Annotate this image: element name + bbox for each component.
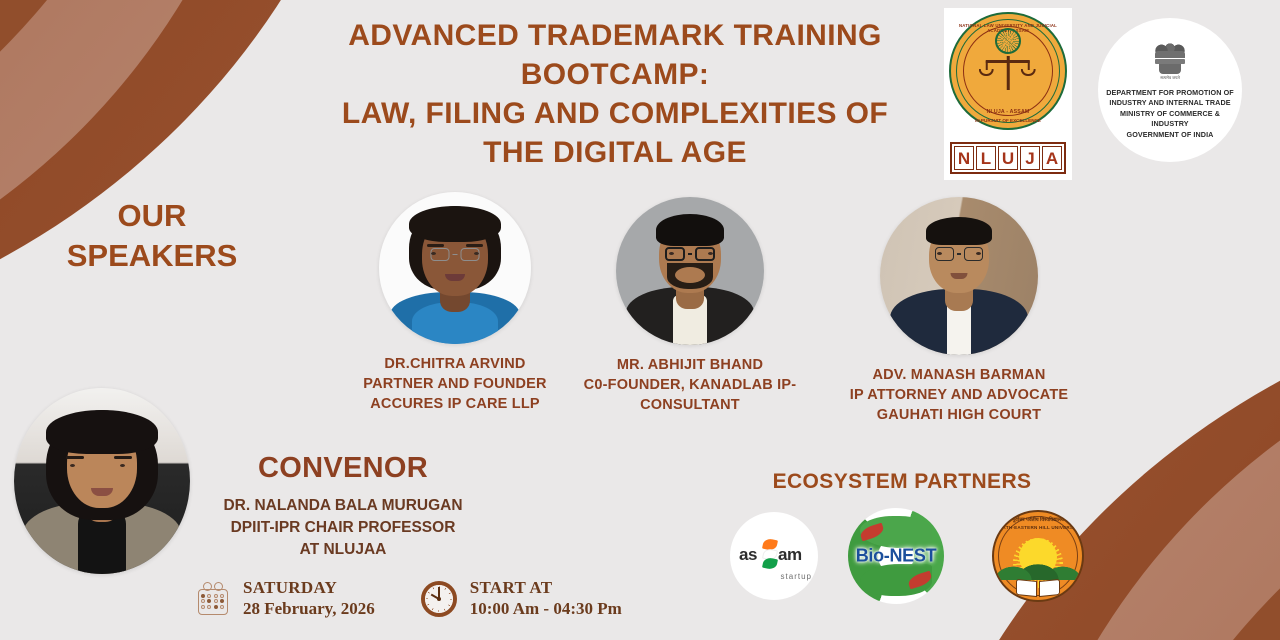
speakers-heading: OUR SPEAKERS bbox=[40, 196, 264, 277]
title-line-1: ADVANCED TRADEMARK TRAINING bbox=[255, 16, 975, 55]
nluja-motto-text: IN PURSUIT OF EXCELLENCE bbox=[951, 118, 1065, 123]
speaker-card-3: ADV. MANASH BARMAN IP ATTORNEY AND ADVOC… bbox=[830, 197, 1088, 425]
speaker-photo-2 bbox=[616, 197, 764, 345]
nluja-seal: NATIONAL LAW UNIVERSITY AND JUDICIAL ACA… bbox=[949, 12, 1067, 130]
event-time: START AT 10:00 Am - 04:30 Pm bbox=[421, 578, 622, 619]
convenor-photo bbox=[14, 388, 190, 574]
nluja-wordmark: N L U J A bbox=[950, 142, 1066, 174]
event-date-value: 28 February, 2026 bbox=[243, 599, 375, 620]
ashoka-chakra-icon bbox=[995, 28, 1021, 54]
speaker-photo-1 bbox=[379, 192, 531, 344]
title-line-2: BOOTCAMP: bbox=[255, 55, 975, 94]
assam-word-right: am bbox=[778, 545, 802, 565]
nehu-logo: पूर्वोत्तर पर्वतीय विश्वविद्यालय NORTH-E… bbox=[992, 510, 1084, 602]
convenor-role: DPIIT-IPR CHAIR PROFESSOR bbox=[196, 517, 490, 539]
speaker-card-1: DR.CHITRA ARVIND PARTNER AND FOUNDER ACC… bbox=[333, 192, 577, 414]
convenor-details: DR. NALANDA BALA MURUGAN DPIIT-IPR CHAIR… bbox=[196, 495, 490, 561]
convenor-name: DR. NALANDA BALA MURUGAN bbox=[196, 495, 490, 517]
poster-title: ADVANCED TRADEMARK TRAINING BOOTCAMP: LA… bbox=[255, 16, 975, 172]
convenor-block: CONVENOR DR. NALANDA BALA MURUGAN DPIIT-… bbox=[196, 452, 490, 561]
scales-of-justice-icon bbox=[1007, 56, 1010, 90]
nluja-letter-a: A bbox=[1042, 146, 1062, 170]
speaker-3-role: IP ATTORNEY AND ADVOCATE bbox=[830, 385, 1088, 405]
event-date: SATURDAY 28 February, 2026 bbox=[196, 578, 375, 619]
bio-nest-wordmark: Bio-NEST bbox=[848, 546, 944, 567]
nluja-letter-j: J bbox=[1020, 146, 1040, 170]
speaker-2-info: MR. ABHIJIT BHAND C0-FOUNDER, KANADLAB I… bbox=[568, 355, 812, 415]
calendar-icon bbox=[196, 582, 230, 616]
nluja-letter-u: U bbox=[998, 146, 1018, 170]
assam-word-left: as bbox=[739, 545, 757, 565]
dpiit-line-3: MINISTRY OF COMMERCE & INDUSTRY bbox=[1104, 109, 1236, 130]
dpiit-line-1: DEPARTMENT FOR PROMOTION OF bbox=[1104, 88, 1236, 98]
hills-icon bbox=[994, 554, 1082, 580]
title-line-3: LAW, FILING AND COMPLEXITIES OF bbox=[255, 94, 975, 133]
speaker-1-info: DR.CHITRA ARVIND PARTNER AND FOUNDER ACC… bbox=[333, 354, 577, 414]
event-time-label: START AT bbox=[470, 578, 622, 599]
dpiit-line-2: INDUSTRY AND INTERNAL TRADE bbox=[1104, 98, 1236, 108]
dpiit-logo: सत्यमेव जयते DEPARTMENT FOR PROMOTION OF… bbox=[1098, 18, 1242, 162]
speaker-3-name: ADV. MANASH BARMAN bbox=[830, 365, 1088, 385]
speaker-2-org: CONSULTANT bbox=[568, 395, 812, 415]
convenor-org: AT NLUJAA bbox=[196, 539, 490, 561]
speaker-3-org: GAUHATI HIGH COURT bbox=[830, 405, 1088, 425]
ecosystem-partners-logos: as am startup Bio-NEST पूर्वोत्तर पर्वती… bbox=[716, 508, 1106, 604]
speaker-1-name: DR.CHITRA ARVIND bbox=[333, 354, 577, 374]
nehu-hindi-text: पूर्वोत्तर पर्वतीय विश्वविद्यालय bbox=[994, 517, 1082, 523]
convenor-title: CONVENOR bbox=[196, 452, 490, 485]
title-line-4: THE DIGITAL AGE bbox=[255, 133, 975, 172]
clock-icon bbox=[421, 581, 457, 617]
nluja-logo: NATIONAL LAW UNIVERSITY AND JUDICIAL ACA… bbox=[944, 8, 1072, 180]
speakers-heading-line2: SPEAKERS bbox=[40, 236, 264, 276]
speaker-1-org: ACCURES IP CARE LLP bbox=[333, 394, 577, 414]
speaker-card-2: MR. ABHIJIT BHAND C0-FOUNDER, KANADLAB I… bbox=[568, 197, 812, 415]
dpiit-line-4: GOVERNMENT OF INDIA bbox=[1104, 130, 1236, 140]
event-footer: SATURDAY 28 February, 2026 START AT 10:0… bbox=[196, 578, 622, 619]
event-poster: ADVANCED TRADEMARK TRAINING BOOTCAMP: LA… bbox=[0, 0, 1280, 640]
ashoka-lion-capital-icon: सत्यमेव जयते bbox=[1150, 40, 1190, 86]
tricolor-flame-icon bbox=[763, 539, 778, 569]
speaker-3-info: ADV. MANASH BARMAN IP ATTORNEY AND ADVOC… bbox=[830, 365, 1088, 425]
event-day: SATURDAY bbox=[243, 578, 375, 599]
nluja-arc-bottom-text: NLUJA - ASSAM bbox=[951, 109, 1065, 115]
event-time-value: 10:00 Am - 04:30 Pm bbox=[470, 599, 622, 620]
emblem-motto-text: सत्यमेव जयते bbox=[1150, 75, 1190, 81]
speaker-1-role: PARTNER AND FOUNDER bbox=[333, 374, 577, 394]
bio-nest-logo: Bio-NEST bbox=[848, 508, 944, 604]
assam-startup-logo: as am startup bbox=[730, 512, 818, 600]
speaker-2-role: C0-FOUNDER, KANADLAB IP- bbox=[568, 375, 812, 395]
speaker-2-name: MR. ABHIJIT BHAND bbox=[568, 355, 812, 375]
ecosystem-partners-title: ECOSYSTEM PARTNERS bbox=[752, 470, 1052, 494]
open-book-icon bbox=[1016, 580, 1060, 596]
assam-tagline: startup bbox=[781, 572, 812, 581]
nehu-arc-text: NORTH-EASTERN HILL UNIVERSITY bbox=[994, 525, 1082, 530]
nluja-letter-n: N bbox=[954, 146, 974, 170]
nluja-letter-l: L bbox=[976, 146, 996, 170]
speakers-heading-line1: OUR bbox=[40, 196, 264, 236]
speaker-photo-3 bbox=[880, 197, 1038, 355]
